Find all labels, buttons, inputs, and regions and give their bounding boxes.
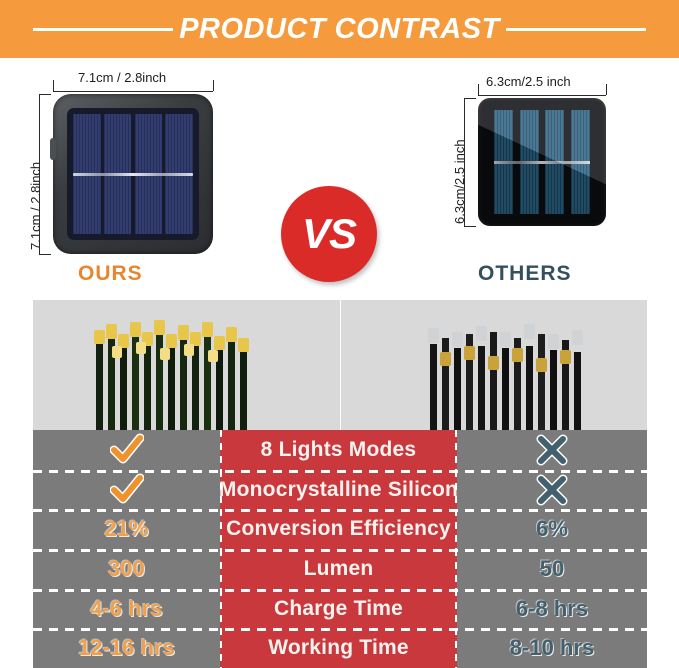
table-row: 21% Conversion Efficiency 6%	[33, 509, 647, 549]
others-value: 8-10 hrs	[510, 635, 594, 661]
ours-solar-panel-image	[53, 94, 213, 254]
feature-label: Working Time	[268, 636, 408, 660]
feature-name-cell: Conversion Efficiency	[220, 509, 457, 549]
others-width-dimension-line	[478, 95, 606, 96]
product-comparison-area: 7.1cm / 2.8inch 7.1cm / 2.8inch OURS	[0, 58, 679, 295]
ours-width-dimension-label: 7.1cm / 2.8inch	[78, 70, 166, 85]
others-led-bundle-photo	[412, 312, 602, 430]
table-row: 4-6 hrs Charge Time 6-8 hrs	[33, 589, 647, 629]
ours-led-bundle-photo	[78, 312, 268, 430]
ours-value-cell	[33, 470, 220, 510]
ours-panel-glass	[67, 108, 199, 240]
others-product-panel: 6.3cm/2.5 inch 6.3cm/2.5 inch OTHERS	[430, 64, 660, 294]
page-title: PRODUCT CONTRAST	[173, 13, 506, 46]
product-photo-strip	[33, 300, 647, 430]
cross-icon	[535, 433, 569, 467]
ours-value: 21%	[104, 516, 148, 542]
ours-width-dimension-line	[53, 91, 213, 92]
others-value: 6-8 hrs	[516, 596, 588, 622]
ours-height-tick-top	[39, 94, 51, 95]
others-value-cell	[457, 430, 647, 470]
check-icon	[110, 433, 144, 467]
others-height-tick-top	[464, 98, 476, 99]
header-rule-left	[33, 28, 173, 31]
others-width-dimension-label: 6.3cm/2.5 inch	[486, 74, 571, 89]
ours-value: 4-6 hrs	[90, 596, 162, 622]
feature-name-cell: Working Time	[220, 628, 457, 668]
others-height-dimension-line	[464, 98, 465, 226]
feature-name-cell: Lumen	[220, 549, 457, 589]
comparison-table: 8 Lights Modes Monocrystalline Silicon	[33, 430, 647, 668]
table-row: Monocrystalline Silicon	[33, 470, 647, 510]
ours-width-tick-left	[53, 80, 54, 91]
feature-label: Lumen	[304, 557, 374, 581]
ours-height-tick-bottom	[39, 254, 51, 255]
header-rule-right	[506, 28, 646, 31]
feature-label: Conversion Efficiency	[226, 517, 451, 541]
feature-label: Charge Time	[274, 597, 403, 621]
ours-value-cell: 12-16 hrs	[33, 628, 220, 668]
feature-name-cell: Charge Time	[220, 589, 457, 629]
others-panel-busbar	[494, 161, 590, 164]
ours-brand-label: OURS	[78, 262, 143, 286]
ours-value-cell	[33, 430, 220, 470]
table-row: 8 Lights Modes	[33, 430, 647, 470]
ours-width-tick-right	[213, 80, 214, 91]
ours-height-dimension-line	[39, 94, 40, 254]
ours-panel-side-button	[50, 138, 56, 160]
feature-name-cell: Monocrystalline Silicon	[220, 470, 457, 510]
ours-value-cell: 4-6 hrs	[33, 589, 220, 629]
vs-label: VS	[302, 210, 356, 258]
ours-value-cell: 21%	[33, 509, 220, 549]
others-solar-panel-image	[478, 98, 606, 226]
others-value-cell: 50	[457, 549, 647, 589]
ours-panel-busbar	[73, 173, 193, 176]
table-row: 300 Lumen 50	[33, 549, 647, 589]
feature-label: Monocrystalline Silicon	[219, 478, 458, 502]
others-height-tick-bottom	[464, 226, 476, 227]
feature-name-cell: 8 Lights Modes	[220, 430, 457, 470]
ours-height-dimension-label: 7.1cm / 2.8inch	[28, 162, 43, 250]
others-brand-label: OTHERS	[478, 262, 572, 286]
others-value-cell: 6-8 hrs	[457, 589, 647, 629]
photo-strip-divider	[340, 300, 341, 430]
table-row: 12-16 hrs Working Time 8-10 hrs	[33, 628, 647, 668]
others-value-cell: 6%	[457, 509, 647, 549]
cross-icon	[535, 473, 569, 507]
others-value-cell: 8-10 hrs	[457, 628, 647, 668]
others-width-tick-left	[478, 84, 479, 95]
others-value-cell	[457, 470, 647, 510]
feature-label: 8 Lights Modes	[261, 438, 417, 462]
ours-value: 300	[108, 556, 145, 582]
others-width-tick-right	[606, 84, 607, 95]
others-value: 6%	[536, 516, 568, 542]
check-icon	[110, 473, 144, 507]
ours-value-cell: 300	[33, 549, 220, 589]
page-header: PRODUCT CONTRAST	[0, 0, 679, 58]
ours-product-panel: 7.1cm / 2.8inch 7.1cm / 2.8inch OURS	[10, 64, 260, 294]
vs-badge: VS	[281, 186, 377, 282]
ours-value: 12-16 hrs	[78, 635, 175, 661]
others-value: 50	[540, 556, 564, 582]
